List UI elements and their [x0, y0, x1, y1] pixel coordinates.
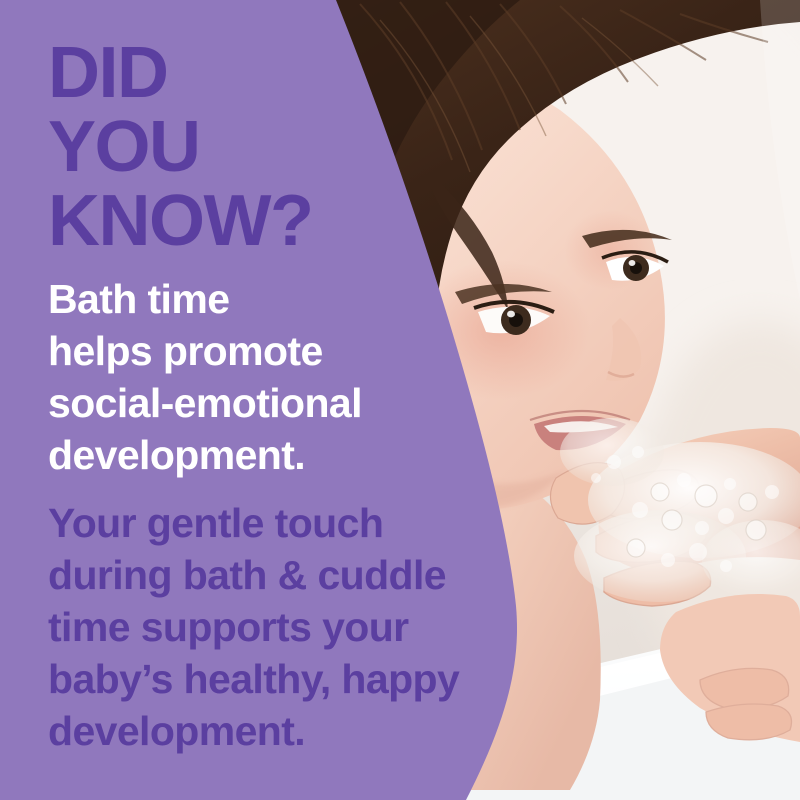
headline-line-1: DID [48, 36, 468, 110]
text-content: DID YOU KNOW? Bath time helps promote so… [0, 0, 520, 800]
infographic-canvas: DID YOU KNOW? Bath time helps promote so… [0, 0, 800, 800]
body-copy-line-3: time supports your [48, 601, 518, 653]
subhead-line-1: Bath time [48, 273, 498, 325]
subhead-line-4: development. [48, 429, 498, 481]
body-copy-line-2: during bath & cuddle [48, 549, 518, 601]
subhead-text: Bath time helps promote social-emotional… [48, 273, 498, 481]
body-copy-line-1: Your gentle touch [48, 497, 518, 549]
headline-line-2: YOU [48, 110, 468, 184]
body-copy-text: Your gentle touch during bath & cuddle t… [48, 497, 518, 757]
page-title: DID YOU KNOW? [48, 36, 468, 258]
headline-line-3: KNOW? [48, 184, 468, 258]
body-copy-line-4: baby’s healthy, happy [48, 653, 518, 705]
subhead-line-3: social-emotional [48, 377, 498, 429]
subhead-line-2: helps promote [48, 325, 498, 377]
body-copy-line-5: development. [48, 705, 518, 757]
